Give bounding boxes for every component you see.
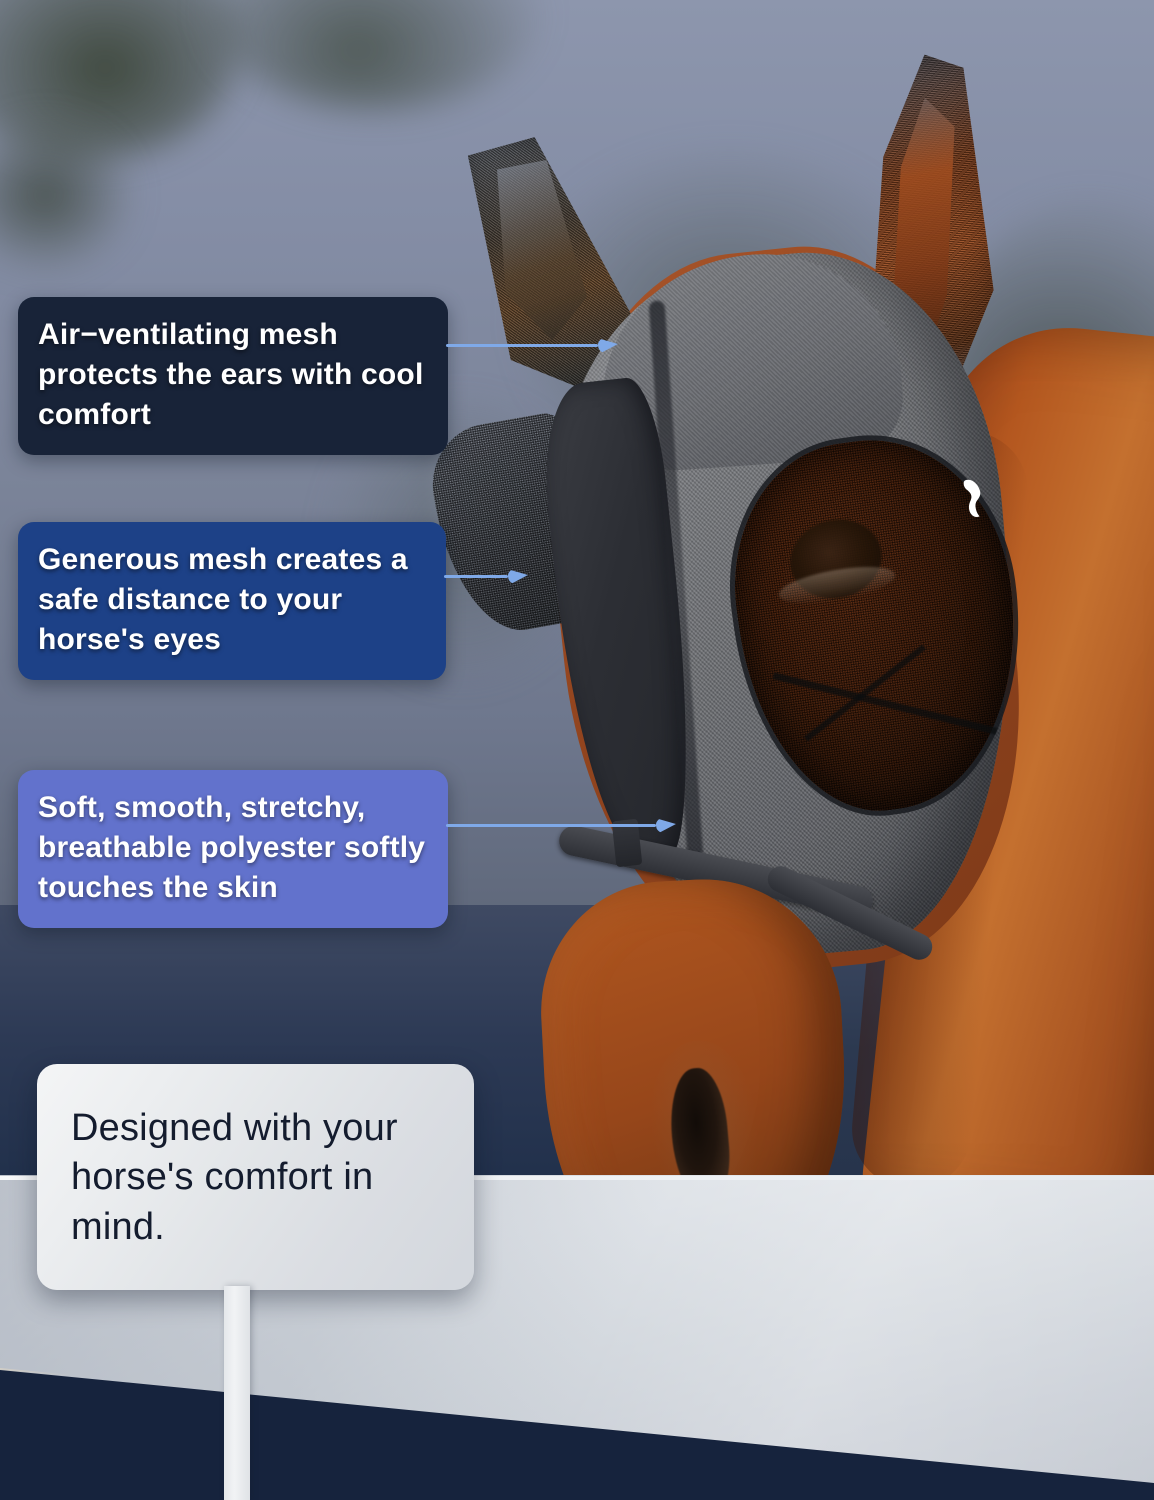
callout-soft-polyester: Soft, smooth, stretchy, breathable polye… — [18, 770, 448, 928]
product-infographic: Air−ventilating mesh protects the ears w… — [0, 0, 1154, 1500]
sign-post — [224, 1286, 250, 1500]
comfort-sign-panel: Designed with your horse's comfort in mi… — [37, 1064, 474, 1290]
callout-air-ventilating-mesh: Air−ventilating mesh protects the ears w… — [18, 297, 448, 455]
horse-head-logo-icon — [958, 477, 989, 527]
callout-generous-mesh: Generous mesh creates a safe distance to… — [18, 522, 446, 680]
fly-mask-tab — [612, 819, 643, 867]
